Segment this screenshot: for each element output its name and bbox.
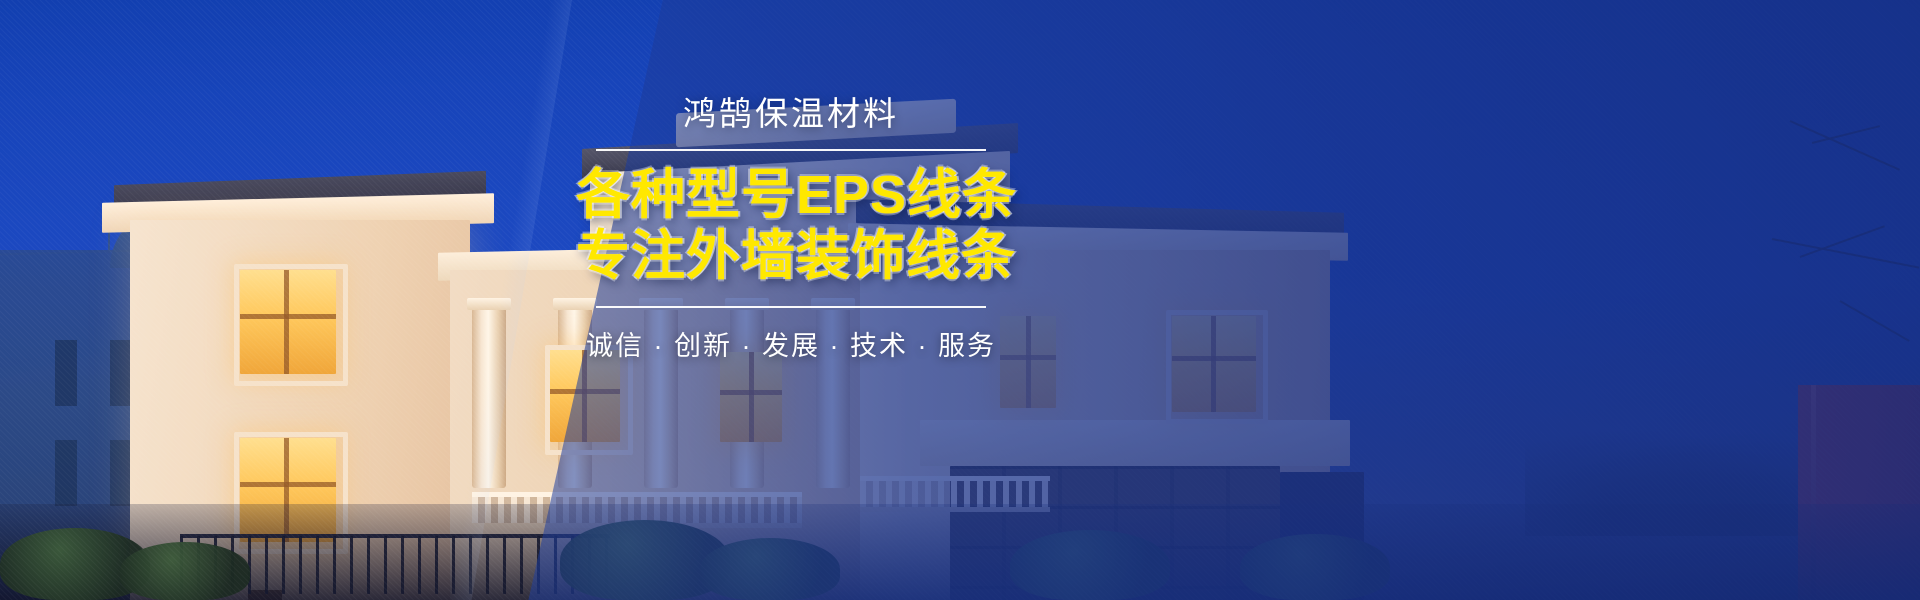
divider-top [596,149,986,151]
promo-banner: 鸿鹄保温材料 各种型号EPS线条 专注外墙装饰线条 诚信 · 创新 · 发展 ·… [0,0,1920,600]
brand-name: 鸿鹄保温材料 [576,96,1006,132]
divider-bottom [596,306,986,308]
window-frame [234,264,348,386]
tagline: 诚信 · 创新 · 发展 · 技术 · 服务 [576,324,1006,363]
headline-line-2: 专注外墙装饰线条 [576,226,1006,286]
headline-line-1: 各种型号EPS线条 [576,165,1006,225]
banner-text-block: 鸿鹄保温材料 各种型号EPS线条 专注外墙装饰线条 诚信 · 创新 · 发展 ·… [576,96,1006,363]
shrub [120,542,250,600]
headline-group: 各种型号EPS线条 专注外墙装饰线条 [576,165,1006,286]
